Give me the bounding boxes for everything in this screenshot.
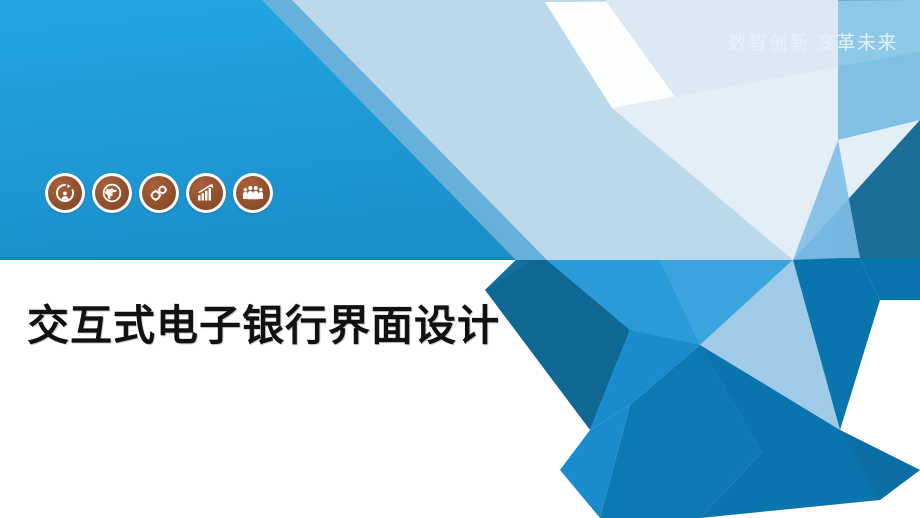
icon-badge-bar-chart-growth[interactable] xyxy=(186,173,226,213)
icon-disc xyxy=(189,176,223,210)
refresh-person-icon xyxy=(54,182,76,204)
tagline-text: 数智创新 变革未来 xyxy=(728,28,898,55)
globe-icon xyxy=(101,182,123,204)
icon-disc xyxy=(48,176,82,210)
people-group-icon xyxy=(242,182,264,204)
decorative-polygon-background xyxy=(0,0,920,518)
icon-badge-globe[interactable] xyxy=(92,173,132,213)
poly-right-shoulder xyxy=(838,0,920,140)
page-title: 交互式电子银行界面设计 xyxy=(27,292,500,353)
bar-chart-growth-icon xyxy=(195,182,217,204)
gears-icon xyxy=(148,182,170,204)
icon-disc xyxy=(142,176,176,210)
icon-badge-gears[interactable] xyxy=(139,173,179,213)
presentation-slide: 数智创新 变革未来 xyxy=(0,0,920,518)
icon-disc xyxy=(95,176,129,210)
icon-disc xyxy=(236,176,270,210)
icon-strip xyxy=(45,173,273,213)
icon-badge-refresh-person[interactable] xyxy=(45,173,85,213)
icon-badge-people-group[interactable] xyxy=(233,173,273,213)
